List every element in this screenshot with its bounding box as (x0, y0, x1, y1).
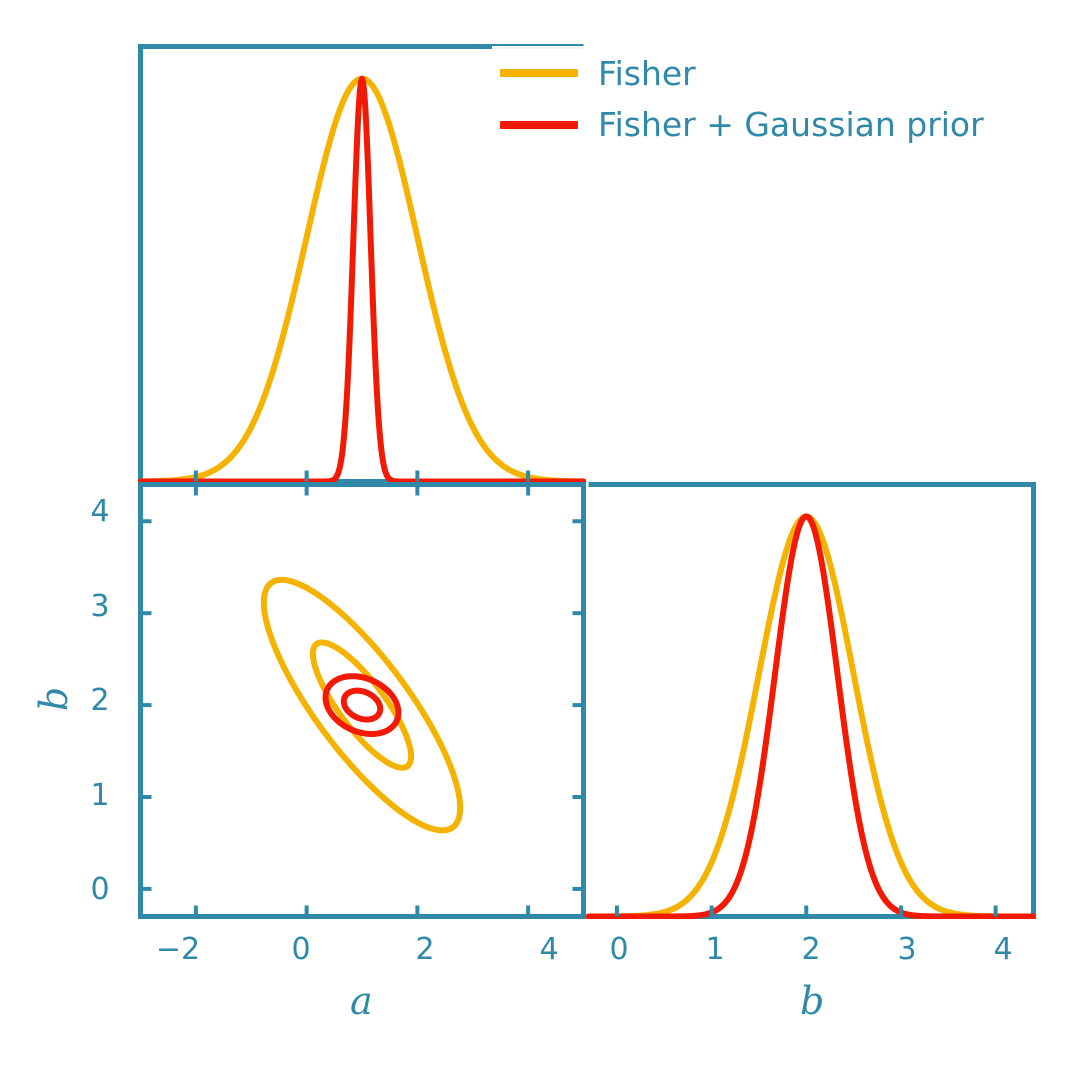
xaxis-label-b: b (800, 982, 824, 1020)
ytick-label-1: 1 (80, 781, 120, 811)
xtick-label-a-0: 0 (271, 935, 331, 965)
xtick-label-a-minus2: −2 (148, 935, 208, 965)
ytick-label-2: 2 (80, 686, 120, 716)
legend-swatch-fisher-prior (500, 121, 578, 129)
legend-label-fisher: Fisher (598, 57, 696, 90)
marginal-b-canvas (586, 482, 1036, 919)
xtick-label-b-4: 4 (973, 935, 1033, 965)
legend-swatch-fisher (500, 69, 578, 77)
ytick-label-3: 3 (80, 592, 120, 622)
corner-plot-figure: Fisher Fisher + Gaussian prior 4 3 2 1 0… (0, 0, 1080, 1080)
xtick-label-a-4: 4 (519, 935, 579, 965)
panel-joint-a-b (138, 482, 586, 919)
panel-marginal-b (586, 482, 1036, 919)
xtick-label-b-2: 2 (781, 935, 841, 965)
xtick-label-a-2: 2 (395, 935, 455, 965)
ytick-label-4: 4 (80, 497, 120, 527)
joint-a-b-canvas (138, 482, 586, 919)
xtick-label-b-1: 1 (685, 935, 745, 965)
legend-background (492, 46, 588, 154)
xtick-label-b-3: 3 (877, 935, 937, 965)
ytick-label-0: 0 (80, 875, 120, 905)
xaxis-label-a: a (350, 982, 373, 1020)
yaxis-label-b: b (35, 687, 73, 711)
xtick-label-b-0: 0 (589, 935, 649, 965)
legend-label-fisher-prior: Fisher + Gaussian prior (598, 108, 984, 141)
